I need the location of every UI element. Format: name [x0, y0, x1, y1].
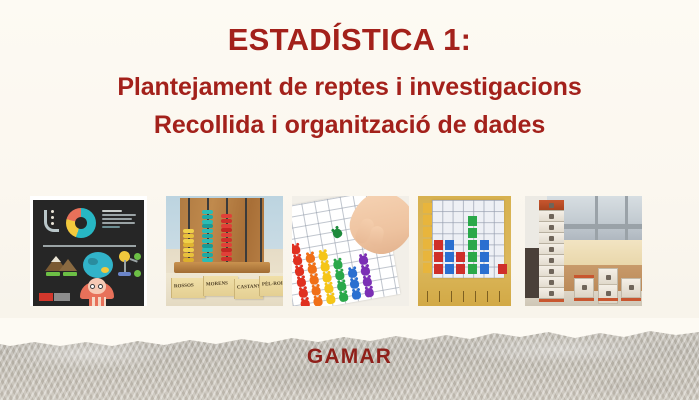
label-card-pel-roig: PÈL-ROIG	[259, 276, 283, 296]
subtitle-line-2: Recollida i organització de dades	[0, 106, 699, 144]
bead-counter-image: ROSSOS MORENS CASTANY PÈL-ROIG	[166, 196, 283, 306]
donut-chart-icon	[66, 208, 96, 238]
classroom-boxes-image	[525, 196, 642, 306]
organization-label: GAMAR	[0, 345, 699, 369]
title-block: ESTADÍSTICA 1: Plantejament de reptes i …	[0, 20, 699, 144]
counting-bears-image	[292, 196, 409, 306]
box-group-4	[621, 278, 641, 298]
bead-stack-castany	[221, 214, 232, 267]
gallery-item-wooden-bead-counter[interactable]: ROSSOS MORENS CASTANY PÈL-ROIG	[166, 196, 283, 306]
box-group-3b	[598, 284, 618, 304]
bead-stack-morens	[202, 210, 213, 268]
book-cover-art	[33, 200, 144, 306]
gallery-item-figurine-board-chart[interactable]	[418, 196, 511, 306]
box-group-2	[574, 278, 594, 298]
label-card-rossos: ROSSOS	[171, 278, 205, 298]
label-card-rossos-text: ROSSOS	[174, 283, 194, 289]
globe-icon	[83, 252, 113, 278]
gallery-item-counting-bears-grid[interactable]	[292, 196, 409, 306]
gallery-item-stacked-boxes-bar-graph[interactable]	[525, 196, 642, 306]
slide-canvas: ESTADÍSTICA 1: Plantejament de reptes i …	[0, 0, 699, 400]
gallery-item-book-cover-infographic[interactable]	[30, 196, 147, 306]
label-card-morens: MORENS	[203, 276, 238, 296]
book-cover-image	[30, 196, 147, 306]
cover-text-lines	[102, 210, 138, 230]
figurine-board-image	[418, 196, 511, 306]
image-gallery: ROSSOS MORENS CASTANY PÈL-ROIG	[0, 196, 699, 306]
bead-stack-rossos	[183, 229, 194, 263]
wooden-base	[174, 262, 270, 273]
label-card-castany-text: CASTANY	[237, 284, 261, 290]
label-card-morens-text: MORENS	[206, 281, 228, 287]
page-title: ESTADÍSTICA 1:	[0, 20, 699, 60]
letter-j-glyph	[44, 210, 59, 232]
torn-paper-edge	[0, 318, 699, 348]
subtitle-line-1: Plantejament de reptes i investigacions	[0, 68, 699, 106]
label-card-pel-roig-text: PÈL-ROIG	[262, 281, 283, 287]
box-tower	[539, 200, 564, 301]
publisher-logo	[39, 293, 53, 301]
